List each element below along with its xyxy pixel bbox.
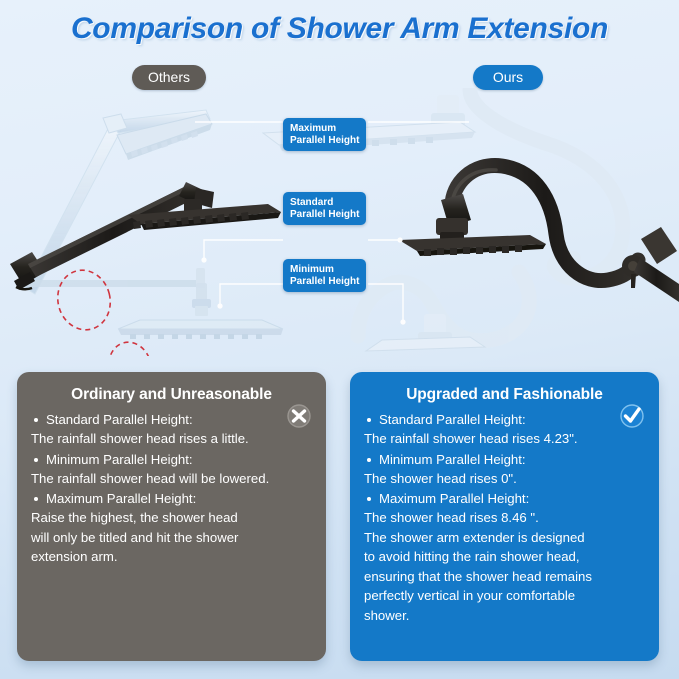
point-body-line: Raise the highest, the shower head (31, 508, 312, 528)
point-head: Standard Parallel Height: (379, 410, 645, 429)
point-head: Minimum Parallel Height: (379, 450, 645, 469)
point-body-line: The rainfall shower head will be lowered… (31, 469, 312, 489)
point-body-line: ensuring that the shower head remains (364, 567, 645, 587)
point-head: Maximum Parallel Height: (379, 489, 645, 508)
callout-line-1: Minimum (290, 264, 359, 276)
badge-ours: Ours (473, 65, 543, 90)
point-body-line: to avoid hitting the rain shower head, (364, 547, 645, 567)
badge-others: Others (132, 65, 206, 90)
point-body-line: The rainfall shower head rises a little. (31, 429, 312, 449)
callout-line-1: Maximum (290, 123, 359, 135)
warning-marker-upper (52, 265, 117, 336)
point-head: Minimum Parallel Height: (46, 450, 312, 469)
point-body: The shower head rises 0". (364, 469, 645, 489)
others-illustration-ghost-lowered (118, 283, 283, 339)
point-body-line: The shower arm extender is designed (364, 528, 645, 548)
callout-line-2: Parallel Height (290, 135, 359, 147)
panel-left-heading: Ordinary and Unreasonable (31, 386, 312, 404)
page-title: Comparison of Shower Arm Extension (0, 12, 679, 46)
callout-maximum-parallel-height: Maximum Parallel Height (283, 118, 366, 151)
point-body: The rainfall shower head rises 4.23". (364, 429, 645, 449)
panel-upgraded: Upgraded and Fashionable Standard Parall… (350, 372, 659, 661)
point-body-line: extension arm. (31, 547, 312, 567)
callout-line-2: Parallel Height (290, 209, 359, 221)
point-body-line: will only be titled and hit the shower (31, 528, 312, 548)
point-body: The rainfall shower head will be lowered… (31, 469, 312, 489)
point-body: Raise the highest, the shower head will … (31, 508, 312, 567)
callout-line-1: Standard (290, 197, 359, 209)
point-head: Maximum Parallel Height: (46, 489, 312, 508)
others-illustration-arm-dark (10, 182, 281, 290)
list-item: Maximum Parallel Height: Raise the highe… (31, 489, 312, 567)
list-item: Standard Parallel Height: The rainfall s… (364, 410, 645, 449)
infographic-root: Comparison of Shower Arm Extension Other… (0, 0, 679, 679)
list-item: Standard Parallel Height: The rainfall s… (31, 410, 312, 449)
point-body: The shower head rises 8.46 ". The shower… (364, 508, 645, 625)
point-body-line: The rainfall shower head rises 4.23". (364, 429, 645, 449)
warning-marker-lower (104, 338, 157, 356)
point-body-line: shower. (364, 606, 645, 626)
panel-right-points: Standard Parallel Height: The rainfall s… (364, 410, 645, 625)
point-head: Standard Parallel Height: (46, 410, 312, 429)
list-item: Minimum Parallel Height: The shower head… (364, 450, 645, 489)
list-item: Minimum Parallel Height: The rainfall sh… (31, 450, 312, 489)
panel-right-heading: Upgraded and Fashionable (364, 386, 645, 404)
panel-ordinary: Ordinary and Unreasonable Standard Paral… (17, 372, 326, 661)
callout-line-2: Parallel Height (290, 276, 359, 288)
callout-standard-parallel-height: Standard Parallel Height (283, 192, 366, 225)
ours-illustration-arm-dark (399, 166, 679, 302)
list-item: Maximum Parallel Height: The shower head… (364, 489, 645, 625)
point-body: The rainfall shower head rises a little. (31, 429, 312, 449)
point-body-line: The shower head rises 8.46 ". (364, 508, 645, 528)
point-body-line: The shower head rises 0". (364, 469, 645, 489)
callout-minimum-parallel-height: Minimum Parallel Height (283, 259, 366, 292)
point-body-line: perfectly vertical in your comfortable (364, 586, 645, 606)
panel-left-points: Standard Parallel Height: The rainfall s… (31, 410, 312, 567)
